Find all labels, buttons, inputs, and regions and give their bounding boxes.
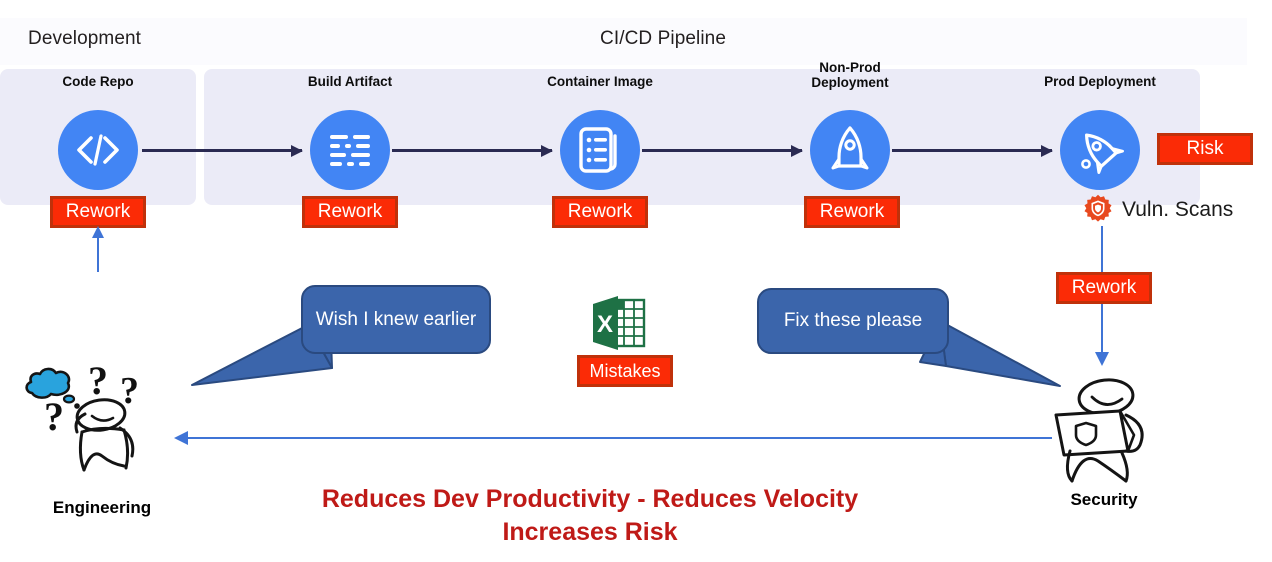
tagline-line-2: Increases Risk bbox=[0, 516, 1180, 549]
rework-badge-nonprod[interactable]: Rework bbox=[804, 196, 900, 228]
container-image-circle bbox=[560, 110, 640, 190]
rocket-icon bbox=[830, 125, 870, 175]
tagline: Reduces Dev Productivity - Reduces Veloc… bbox=[0, 483, 1180, 549]
confused-person-icon: ? ? ? bbox=[16, 358, 188, 482]
node-container-image[interactable]: Container Image bbox=[560, 110, 640, 190]
svg-text:X: X bbox=[597, 311, 613, 338]
rework-badge-code-repo[interactable]: Rework bbox=[50, 196, 146, 228]
prod-circle bbox=[1060, 110, 1140, 190]
vuln-scans-label: Vuln. Scans bbox=[1122, 198, 1233, 222]
svg-text:?: ? bbox=[44, 394, 64, 439]
build-lines-icon bbox=[327, 130, 373, 170]
person-with-laptop-icon bbox=[1042, 375, 1166, 487]
code-brackets-icon bbox=[74, 130, 122, 170]
svg-text:?: ? bbox=[88, 358, 108, 403]
arrow-vuln-to-rework-shaft bbox=[1101, 226, 1103, 274]
node-label-prod-deployment: Prod Deployment bbox=[990, 74, 1210, 89]
diagram-canvas: Development CI/CD Pipeline Code Repo Bui… bbox=[0, 0, 1272, 562]
excel-spreadsheet-icon: X bbox=[590, 294, 648, 352]
node-nonprod-deployment[interactable]: Non-Prod Deployment bbox=[810, 110, 890, 190]
build-artifact-circle bbox=[310, 110, 390, 190]
arrow-security-to-engineering-shaft bbox=[186, 437, 1052, 439]
mistakes-badge[interactable]: Mistakes bbox=[577, 355, 673, 387]
band-title-development: Development bbox=[28, 28, 141, 50]
node-label-build-artifact: Build Artifact bbox=[240, 74, 460, 89]
rocket-launch-icon bbox=[1076, 126, 1124, 174]
document-list-icon bbox=[578, 126, 622, 174]
arrow-nonprod-to-prod bbox=[892, 149, 1052, 152]
node-label-code-repo: Code Repo bbox=[0, 74, 208, 89]
code-repo-circle bbox=[58, 110, 138, 190]
node-label-container-image: Container Image bbox=[490, 74, 710, 89]
arrow-repo-to-build bbox=[142, 149, 302, 152]
tagline-line-1: Reduces Dev Productivity - Reduces Veloc… bbox=[0, 483, 1180, 516]
arrow-rework-to-security-shaft bbox=[1101, 304, 1103, 356]
arrow-rework-to-repo-head bbox=[92, 226, 104, 238]
rework-badge-container-image[interactable]: Rework bbox=[552, 196, 648, 228]
risk-badge[interactable]: Risk bbox=[1157, 133, 1253, 165]
rework-badge-build-artifact[interactable]: Rework bbox=[302, 196, 398, 228]
node-label-nonprod-deployment: Non-Prod Deployment bbox=[740, 60, 960, 90]
node-build-artifact[interactable]: Build Artifact bbox=[310, 110, 390, 190]
node-code-repo[interactable]: Code Repo bbox=[58, 110, 138, 190]
arrow-build-to-container bbox=[392, 149, 552, 152]
node-prod-deployment[interactable]: Prod Deployment bbox=[1060, 110, 1140, 190]
node-label-nonprod-line1: Non-Prod bbox=[819, 60, 881, 75]
speech-bubble-fix-these-please[interactable]: Fix these please bbox=[757, 288, 949, 354]
rework-badge-security[interactable]: Rework bbox=[1056, 272, 1152, 304]
gear-shield-icon bbox=[1083, 194, 1113, 224]
nonprod-circle bbox=[810, 110, 890, 190]
arrow-rework-to-repo-shaft bbox=[97, 236, 99, 272]
band-title-cicd: CI/CD Pipeline bbox=[600, 28, 726, 50]
speech-bubble-wish-i-knew-earlier[interactable]: Wish I knew earlier bbox=[301, 285, 491, 354]
arrow-rework-to-security-head bbox=[1095, 352, 1109, 366]
arrow-container-to-nonprod bbox=[642, 149, 802, 152]
node-label-nonprod-line2: Deployment bbox=[811, 75, 888, 90]
